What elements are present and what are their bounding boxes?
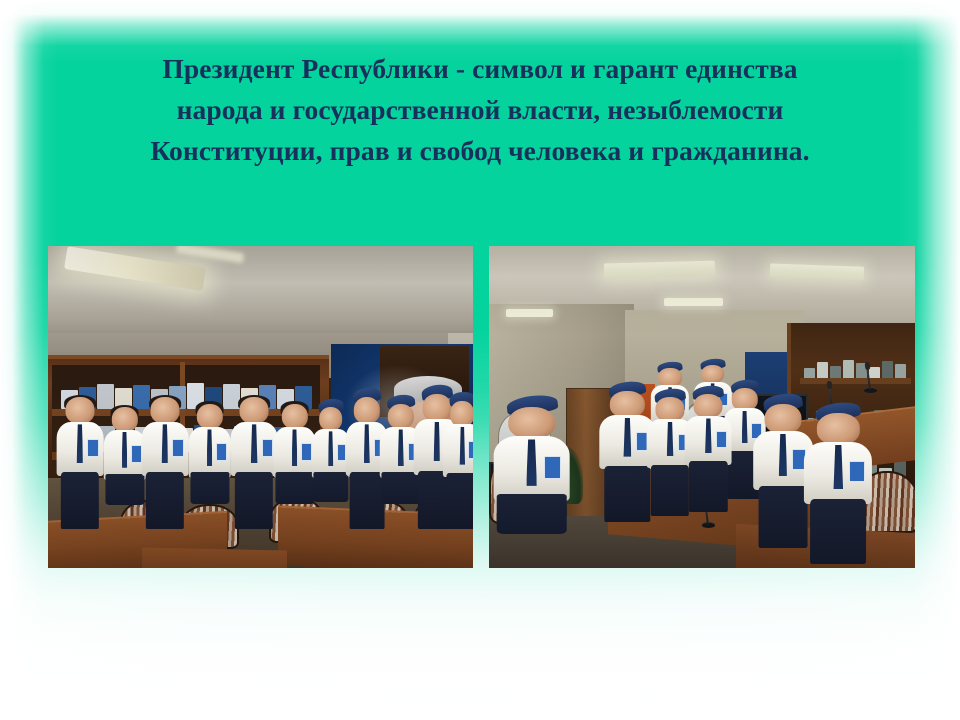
display-item [804, 368, 815, 378]
head [656, 397, 685, 421]
student-figure [804, 413, 872, 561]
head [354, 397, 380, 424]
display-item [882, 361, 893, 378]
trousers [758, 486, 807, 548]
head [388, 404, 414, 430]
student-figure [493, 407, 570, 562]
slide-canvas: Президент Республики - символ и гарант е… [0, 0, 960, 720]
trousers [447, 473, 473, 528]
display-item [817, 362, 828, 378]
name-badge [216, 443, 227, 461]
display-item [869, 367, 880, 378]
display-item [843, 360, 854, 378]
name-badge [172, 439, 183, 458]
head [240, 397, 269, 424]
name-badge [544, 456, 561, 478]
shelf-board [800, 378, 911, 384]
name-badge [87, 439, 98, 458]
trousers [61, 472, 99, 529]
name-badge [468, 441, 473, 459]
ceiling-light-icon [506, 309, 553, 317]
head [694, 394, 723, 418]
name-badge [131, 445, 142, 462]
student-figure [685, 394, 732, 510]
skirt [190, 472, 229, 504]
trousers [235, 472, 273, 529]
student-figure [188, 404, 231, 526]
student-figure [57, 397, 104, 526]
head [817, 413, 859, 444]
trousers [689, 461, 727, 512]
student-figure [273, 404, 316, 526]
skirt [105, 474, 144, 505]
display-item [830, 366, 841, 378]
title-line-2: народа и государственной власти, незыбле… [60, 89, 900, 130]
microphone-icon [702, 523, 715, 528]
name-badge [716, 431, 727, 448]
student-figure [142, 397, 189, 526]
table [142, 547, 287, 568]
head [658, 368, 682, 387]
head [150, 397, 179, 424]
photo-right [489, 246, 915, 568]
page-title: Президент Республики - символ и гарант е… [60, 48, 900, 171]
head [451, 401, 473, 427]
name-badge [849, 461, 865, 482]
skirt [275, 472, 314, 504]
head [610, 391, 644, 418]
name-badge [262, 439, 273, 458]
student-figure [312, 407, 350, 523]
trousers [810, 499, 866, 564]
head [196, 404, 222, 430]
skirt [313, 472, 348, 502]
trousers [605, 466, 650, 523]
ceiling-light-icon [604, 261, 715, 279]
skirt [496, 494, 567, 534]
display-item [895, 364, 906, 378]
head [764, 404, 801, 434]
head [701, 365, 725, 383]
photo-left [48, 246, 473, 568]
shelf-items [804, 359, 906, 378]
head [319, 407, 343, 431]
head [111, 407, 137, 432]
trousers [651, 465, 689, 516]
name-badge [301, 443, 312, 461]
head [65, 397, 94, 424]
microphone-icon [864, 388, 877, 393]
head [281, 404, 307, 430]
ceiling-light-icon [664, 298, 724, 306]
trousers [146, 472, 184, 529]
title-line-3: Конституции, прав и свобод человека и гр… [60, 130, 900, 171]
head [508, 407, 556, 439]
student-figure [231, 397, 278, 526]
student-figure [103, 407, 146, 526]
title-line-1: Президент Республики - символ и гарант е… [60, 48, 900, 89]
student-figure [443, 401, 473, 527]
